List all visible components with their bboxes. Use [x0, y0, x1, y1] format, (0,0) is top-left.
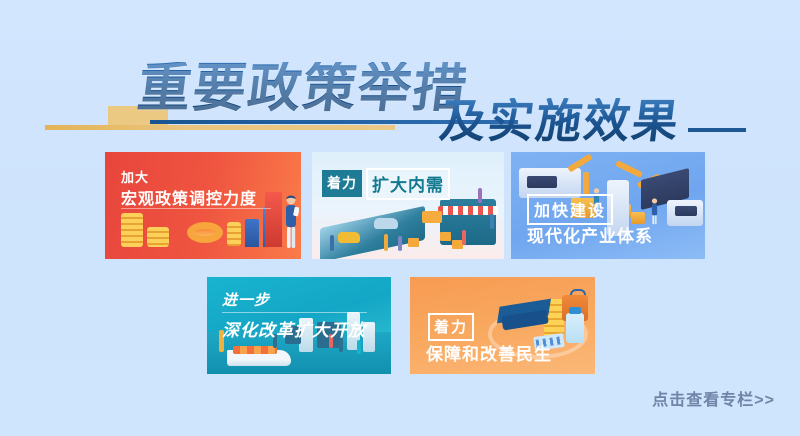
pedestrian-icon — [357, 340, 361, 354]
card-line2: 保障和改善民生 — [426, 340, 552, 365]
policy-card-expand-demand[interactable]: 着力 扩大内需 — [312, 152, 504, 259]
machine-panel-icon — [675, 206, 697, 216]
pedestrian-icon — [462, 230, 466, 245]
road-shape — [320, 206, 425, 259]
delivery-truck-icon — [422, 211, 442, 223]
page-subtitle: 及实施效果 — [437, 98, 683, 144]
view-column-link[interactable]: 点击查看专栏>> — [652, 386, 775, 410]
medicine-bottle-icon — [566, 313, 584, 343]
card-line1: 加快建设 — [527, 194, 613, 225]
parcel-box-icon — [440, 232, 451, 241]
bottle-cap-icon — [569, 307, 581, 314]
pedestrian-icon — [478, 188, 482, 203]
robot-arm-icon — [615, 160, 643, 178]
taxi-icon — [338, 232, 360, 243]
coin-stack-small-icon — [147, 227, 169, 247]
card-line1: 着力 — [428, 313, 474, 341]
pedestrian-icon — [384, 234, 388, 251]
page-title: 重要政策举措 — [135, 62, 472, 115]
card-line2: 扩大内需 — [366, 168, 450, 200]
car-icon — [374, 218, 398, 229]
card-line1: 加大 — [121, 167, 149, 186]
pedestrian-icon — [330, 235, 334, 251]
card-line2: 现代化产业体系 — [527, 222, 653, 247]
pedestrian-icon — [398, 236, 402, 251]
shop-awning-icon — [438, 206, 498, 215]
policy-card-modern-industry[interactable]: 加快建设 现代化产业体系 — [511, 152, 705, 259]
policy-card-macro-control[interactable]: 加大 宏观政策调控力度 — [105, 152, 301, 259]
card-line2: 深化改革扩大开放 — [222, 316, 366, 341]
coin-stack-icon — [121, 213, 143, 247]
card-divider — [222, 312, 367, 313]
poster-canvas: 重要政策举措 及实施效果 加大 宏观政策调控力度 — [0, 0, 800, 436]
machine-panel-icon — [527, 176, 557, 188]
analyst-person-icon — [283, 193, 299, 251]
policy-card-reform-opening[interactable]: 进一步 深化改革扩大开放 — [207, 277, 391, 374]
ship-containers-icon — [233, 346, 277, 354]
pedestrian-icon — [490, 214, 494, 229]
card-line1: 着力 — [322, 170, 362, 197]
gold-accent-rule — [45, 125, 395, 130]
title-block: 重要政策举措 及实施效果 — [0, 28, 800, 138]
bar-chart-bar-tall — [265, 192, 282, 247]
policy-card-peoples-wellbeing[interactable]: 着力 保障和改善民生 — [410, 277, 595, 374]
bar-chart-bar — [245, 219, 259, 247]
card-line1: 进一步 — [222, 289, 270, 310]
card-divider — [121, 208, 271, 209]
parcel-box-icon — [408, 238, 419, 247]
card-line2: 宏观政策调控力度 — [121, 185, 257, 209]
title-trailing-dash — [688, 128, 746, 132]
robot-arm-icon — [583, 172, 589, 196]
gold-ring-icon — [187, 222, 223, 243]
coin-stack-mid-icon — [227, 222, 241, 246]
